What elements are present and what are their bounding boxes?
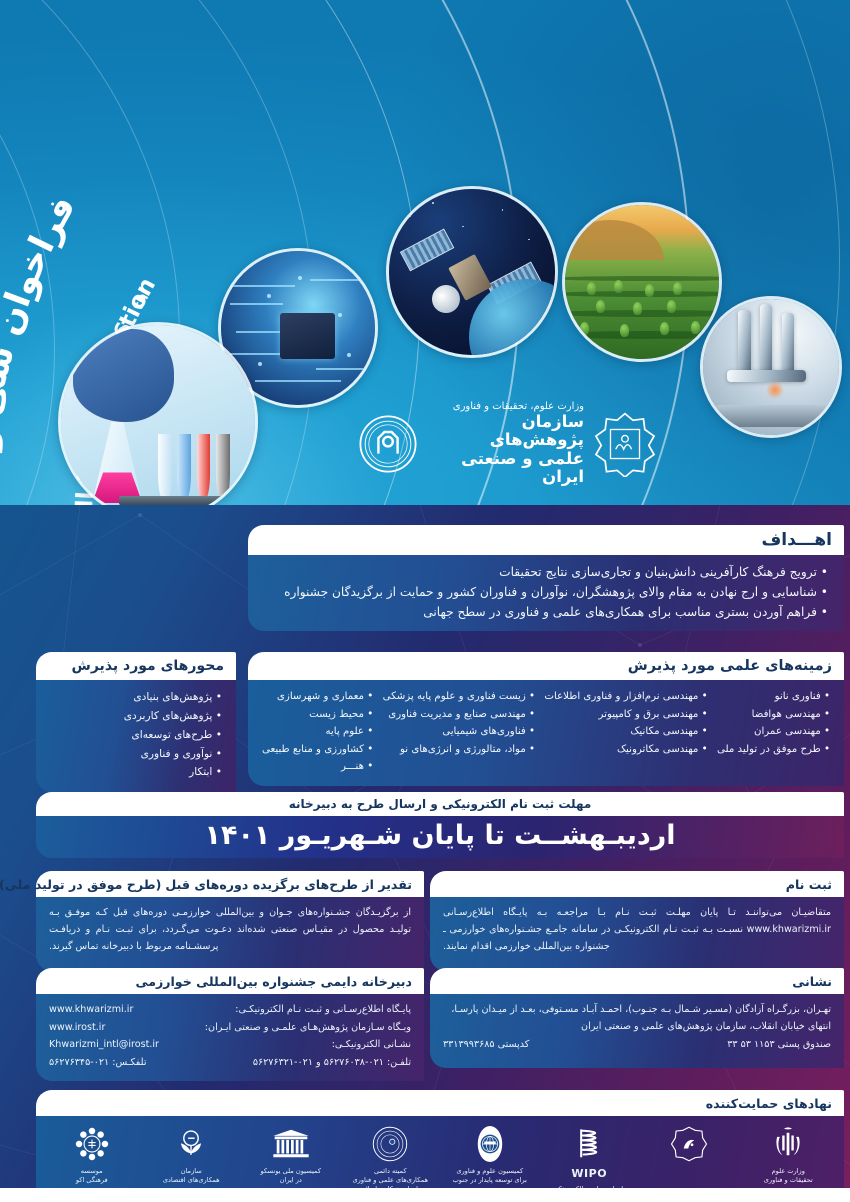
supporter-caption: موسسه فرهنگی اکو <box>45 1167 139 1185</box>
supporters-title: نهادهای حمایت‌کننده <box>706 1096 832 1111</box>
contact-row: وبـگاه سـازمان پژوهش‌هـای علمـی و صنعتی … <box>49 1019 411 1037</box>
contact-row: پایـگاه اطلاع‌رسـانی و ثبـت نـام الکترون… <box>49 1001 411 1019</box>
organization-name: وزارت علوم، تحقیقات و فناوری سازمان پژوه… <box>426 401 584 486</box>
supporters-logo-row: موسسه فرهنگی اکو سازمان همکاری‌های اقتصا… <box>42 1124 838 1194</box>
zip-code: کدپستی ۳۳۱۳۹۹۳۶۸۵ <box>443 1036 529 1053</box>
fields-item: فناوری نانو <box>717 688 830 706</box>
eco-logo-icon <box>144 1124 238 1164</box>
goals-header: اهـــداف <box>248 525 844 555</box>
contact-label: نشـانی الکترونیکـی: <box>332 1036 411 1054</box>
registration-body: متقاضیـان می‌تواننـد تـا پایان مهلـت ثبـ… <box>430 897 844 971</box>
supporter-caption: کمیسیون علوم و فناوری برای توسعه پایدار … <box>443 1167 537 1185</box>
contact-label: پایـگاه اطلاع‌رسـانی و ثبـت نـام الکترون… <box>235 1001 411 1019</box>
goals-body: ترویج فرهنگ کارآفرینی دانش‌بنیان و تجاری… <box>248 555 844 631</box>
contact-value: تلفکـس: ۰۲۱-۵۶۲۷۶۳۴۵ <box>49 1054 147 1072</box>
supporter-caption: سازمان همکاری‌های اقتصادی <box>144 1167 238 1185</box>
secretariat-contact-rows: پایـگاه اطلاع‌رسـانی و ثبـت نـام الکترون… <box>49 1001 411 1072</box>
secretariat-card: دبیرخانه دایمی جشنواره بین‌المللی خوارزم… <box>36 968 424 1081</box>
contact-value[interactable]: www.khwarizmi.ir <box>49 1001 133 1019</box>
contact-value[interactable]: www.irost.ir <box>49 1019 105 1037</box>
fields-columns: فناوری نانو مهندسی هوافضا مهندسی عمران ط… <box>262 688 830 776</box>
postal-box: صندوق پستی ۱۱۵۳ ۵۳ ۳۳ <box>727 1036 831 1053</box>
fields-body: فناوری نانو مهندسی هوافضا مهندسی عمران ط… <box>248 680 844 786</box>
postal-box-label: صندوق پستی <box>778 1039 831 1050</box>
secretariat-title: دبیرخانه دایمی جشنواره بین‌المللی خوارزم… <box>135 974 412 989</box>
contact-row: نشـانی الکترونیکـی: Khwarizmi_intl@irost… <box>49 1036 411 1054</box>
supporter-item: وزارت علوم تحقیقات و فناوری <box>741 1124 835 1185</box>
bubble-microscope <box>700 296 842 438</box>
registration-title: ثبت نام <box>786 877 832 892</box>
prize-header: تقدیر از طرح‌های برگزیده دوره‌های قبل (ط… <box>36 871 424 897</box>
organization-logo-block: وزارت علوم، تحقیقات و فناوری سازمان پژوه… <box>358 398 658 490</box>
oic-standing-committee-logo-icon <box>343 1124 437 1164</box>
axes-item: طرح‌های توسعه‌ای <box>50 726 222 745</box>
supporter-item: موسسه فرهنگی اکو <box>45 1124 139 1185</box>
prize-card: تقدیر از طرح‌های برگزیده دوره‌های قبل (ط… <box>36 871 424 971</box>
goals-card: اهـــداف ترویج فرهنگ کارآفرینی دانش‌بنیا… <box>248 525 844 631</box>
axes-body: پژوهش‌های بنیادی پژوهش‌های کاربردی طرح‌ه… <box>36 680 236 792</box>
address-card: نشانی تهـران، بزرگـراه آزادگان (مسـیر شـ… <box>430 968 844 1068</box>
supporters-card: نهادهای حمایت‌کننده <box>36 1090 844 1202</box>
contact-label: وبـگاه سـازمان پژوهش‌هـای علمـی و صنعتی … <box>205 1019 411 1037</box>
fields-item: مهندسی مکانیک <box>544 723 707 741</box>
goals-item: فراهم آوردن بستری مناسب برای همکاری‌های … <box>264 602 828 622</box>
fields-item: مهندسی برق و کامپیوتر <box>544 706 707 724</box>
prize-subtitle: (طرح موفق در تولید ملی) <box>0 877 161 892</box>
axes-item: نوآوری و فناوری <box>50 745 222 764</box>
supporter-caption-en: WIPO <box>542 1167 636 1182</box>
fields-item: علوم پایه <box>262 723 373 741</box>
khwarizmi-award-seal-icon <box>592 411 658 477</box>
axes-item: پژوهش‌های بنیادی <box>50 688 222 707</box>
goals-list: ترویج فرهنگ کارآفرینی دانش‌بنیان و تجاری… <box>264 562 828 622</box>
goals-item: ترویج فرهنگ کارآفرینی دانش‌بنیان و تجاری… <box>264 562 828 582</box>
deadline-body: اردیبـهشــت تا پایان شـهریـور ۱۴۰۱ <box>36 816 844 858</box>
axes-item: ابتکار <box>50 763 222 782</box>
secretariat-body: پایـگاه اطلاع‌رسـانی و ثبـت نـام الکترون… <box>36 994 424 1081</box>
axes-header: محورهای مورد پذیرش <box>36 652 236 680</box>
unesco-logo-icon <box>244 1124 338 1164</box>
hero-banner: فراخوان سی و ششمین جشنواره بین‌المللی 36… <box>0 0 850 520</box>
address-line-2: انتهای خیابان انقلاب، سازمان پژوهش‌های ع… <box>443 1018 831 1035</box>
mostafa-foundation-logo-icon <box>642 1124 736 1164</box>
fields-header: زمینه‌های علمی مورد پذیرش <box>248 652 844 680</box>
supporter-item: کمیسیون ملی یونسکو در ایران <box>244 1124 338 1185</box>
supporter-caption: وزارت علوم تحقیقات و فناوری <box>741 1167 835 1185</box>
secretariat-header: دبیرخانه دایمی جشنواره بین‌المللی خوارزم… <box>36 968 424 994</box>
fields-item: فناوری‌های شیمیایی <box>383 723 535 741</box>
fields-card: زمینه‌های علمی مورد پذیرش فناوری نانو مه… <box>248 652 844 786</box>
supporter-item: WIPO سازمان جهانی مالکیت فکری <box>542 1124 636 1194</box>
fields-item: طرح موفق در تولید ملی <box>717 741 830 759</box>
bubble-agriculture <box>562 202 722 362</box>
fields-column: زیست فناوری و علوم پایه پزشکی مهندسی صنا… <box>383 688 535 776</box>
fields-column: معماری و شهرسازی محیط زیست علوم پایه کشا… <box>262 688 373 776</box>
deadline-value: اردیبـهشــت تا پایان شـهریـور ۱۴۰۱ <box>36 820 844 851</box>
fields-item: مهندسی مکاترونیک <box>544 741 707 759</box>
fields-column: مهندسی نرم‌افزار و فناوری اطلاعات مهندسی… <box>544 688 707 776</box>
goals-item: شناسایی و ارج نهادن به مقام والای پژوهشگ… <box>264 582 828 602</box>
bubble-satellite <box>386 186 558 358</box>
prize-title: تقدیر از طرح‌های برگزیده دوره‌های قبل <box>165 877 412 892</box>
axes-list: پژوهش‌های بنیادی پژوهش‌های کاربردی طرح‌ه… <box>50 688 222 782</box>
org-name-line1: سازمان پژوهش‌های <box>426 413 584 450</box>
contact-row: تلفـن: ۰۲۱-۵۶۲۷۶۰۳۸ و ۰۲۱-۵۶۲۷۶۳۲۱ تلفکـ… <box>49 1054 411 1072</box>
supporter-item <box>642 1124 736 1167</box>
fields-item: مهندسی هوافضا <box>717 706 830 724</box>
ministry-line: وزارت علوم، تحقیقات و فناوری <box>426 401 584 412</box>
axes-card: محورهای مورد پذیرش پژوهش‌های بنیادی پژوه… <box>36 652 236 792</box>
axes-item: پژوهش‌های کاربردی <box>50 707 222 726</box>
supporters-header: نهادهای حمایت‌کننده <box>36 1090 844 1116</box>
deadline-card: مهلت ثبت نام الکترونیکی و ارسال طرح به د… <box>36 792 844 858</box>
poster-root: فراخوان سی و ششمین جشنواره بین‌المللی 36… <box>0 0 850 1202</box>
bubble-laboratory <box>58 322 258 520</box>
deadline-header: مهلت ثبت نام الکترونیکی و ارسال طرح به د… <box>36 792 844 816</box>
zip-value: ۳۳۱۳۹۹۳۶۸۵ <box>443 1039 495 1050</box>
registration-header: ثبت نام <box>430 871 844 897</box>
address-header: نشانی <box>430 968 844 994</box>
contact-label: تلفـن: ۰۲۱-۵۶۲۷۶۰۳۸ و ۰۲۱-۵۶۲۷۶۳۲۱ <box>253 1054 411 1072</box>
zip-label: کدپستی <box>498 1039 530 1050</box>
supporter-item: کمیسیون علوم و فناوری برای توسعه پایدار … <box>443 1124 537 1185</box>
address-title: نشانی <box>792 974 832 989</box>
fields-item: معماری و شهرسازی <box>262 688 373 706</box>
address-line-1: تهـران، بزرگـراه آزادگان (مسـیر شـمال بـ… <box>443 1001 831 1018</box>
goals-title: اهـــداف <box>762 530 832 550</box>
postal-box-value: ۱۱۵۳ ۵۳ ۳۳ <box>727 1039 774 1050</box>
msrt-logo-icon <box>741 1124 835 1164</box>
fields-title: زمینه‌های علمی مورد پذیرش <box>628 658 832 674</box>
fields-item: کشاورزی و منابع طبیعی <box>262 741 373 759</box>
irost-logo-icon <box>358 414 418 474</box>
fields-item: مهندسی عمران <box>717 723 830 741</box>
registration-card: ثبت نام متقاضیـان می‌تواننـد تـا پایان م… <box>430 871 844 971</box>
eco-cultural-institute-logo-icon <box>45 1124 139 1164</box>
org-name-line2: علمی و صنعتی ایران <box>426 450 584 487</box>
fields-column: فناوری نانو مهندسی هوافضا مهندسی عمران ط… <box>717 688 830 776</box>
contact-value[interactable]: Khwarizmi_intl@irost.ir <box>49 1036 159 1054</box>
prize-text: از برگزیـدگان جشـنواره‌های جـوان و بین‌ا… <box>49 904 411 955</box>
axes-title: محورهای مورد پذیرش <box>72 658 224 674</box>
bottom-white-strip <box>0 1188 850 1202</box>
comsats-logo-icon <box>443 1124 537 1164</box>
supporter-caption: کمیسیون ملی یونسکو در ایران <box>244 1167 338 1185</box>
address-codes: صندوق پستی ۱۱۵۳ ۵۳ ۳۳ کدپستی ۳۳۱۳۹۹۳۶۸۵ <box>443 1036 831 1053</box>
registration-text: متقاضیـان می‌تواننـد تـا پایان مهلـت ثبـ… <box>443 904 831 955</box>
prize-body: از برگزیـدگان جشـنواره‌های جـوان و بین‌ا… <box>36 897 424 971</box>
fields-item: مواد، متالورژی و انرژی‌های نو <box>383 741 535 759</box>
deadline-title: مهلت ثبت نام الکترونیکی و ارسال طرح به د… <box>289 797 592 811</box>
wipo-logo-icon <box>542 1124 636 1164</box>
address-body: تهـران، بزرگـراه آزادگان (مسـیر شـمال بـ… <box>430 994 844 1068</box>
fields-item: هنـــر <box>262 758 373 776</box>
supporter-item: سازمان همکاری‌های اقتصادی <box>144 1124 238 1185</box>
supporter-item: کمیته دائمی همکاری‌های علمی و فناوری ساز… <box>343 1124 437 1194</box>
fields-item: محیط زیست <box>262 706 373 724</box>
fields-item: مهندسی صنایع و مدیریت فناوری <box>383 706 535 724</box>
fields-item: مهندسی نرم‌افزار و فناوری اطلاعات <box>544 688 707 706</box>
fields-item: زیست فناوری و علوم پایه پزشکی <box>383 688 535 706</box>
